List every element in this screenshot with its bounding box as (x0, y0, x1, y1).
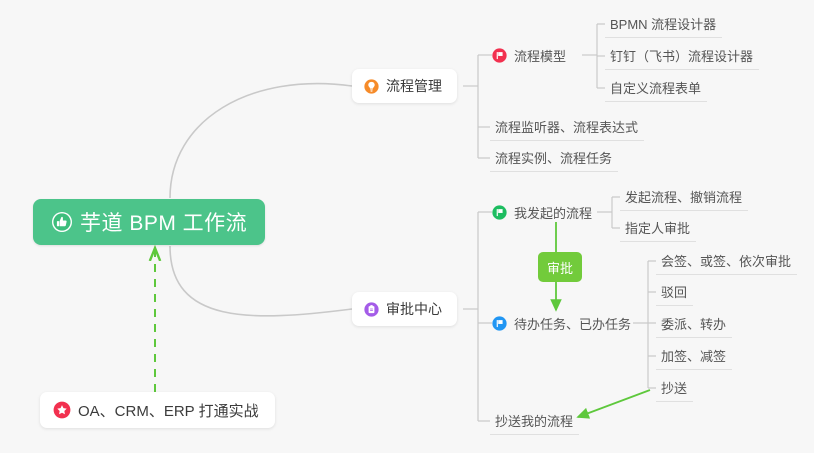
node-my-initiated-label: 我发起的流程 (514, 203, 592, 222)
leaf-cc-label: 抄送 (661, 378, 687, 397)
leaf-start-cancel[interactable]: 发起流程、撤销流程 (620, 183, 748, 211)
leaf-custom-form-label: 自定义流程表单 (610, 78, 701, 97)
leaf-assignee-approval-label: 指定人审批 (625, 218, 690, 237)
star-icon (53, 401, 71, 419)
leaf-bpmn-designer-label: BPMN 流程设计器 (610, 14, 716, 33)
branch-process-management-label: 流程管理 (386, 76, 442, 96)
tag-approval[interactable]: 审批 (538, 252, 582, 282)
leaf-process-listener[interactable]: 流程监听器、流程表达式 (490, 113, 644, 141)
root-label: 芋道 BPM 工作流 (80, 207, 247, 237)
footnote-label: OA、CRM、ERP 打通实战 (78, 400, 259, 421)
leaf-process-listener-label: 流程监听器、流程表达式 (495, 117, 638, 136)
leaf-delegate-transfer[interactable]: 委派、转办 (656, 310, 732, 338)
leaf-cc-my-process-label: 抄送我的流程 (495, 411, 573, 430)
leaf-start-cancel-label: 发起流程、撤销流程 (625, 187, 742, 206)
branch-approval-center-label: 审批中心 (386, 299, 442, 319)
flag-green-icon (492, 205, 507, 220)
node-my-initiated[interactable]: 我发起的流程 (492, 199, 592, 225)
leaf-add-remove-sign-label: 加签、减签 (661, 346, 726, 365)
arrow-cc-to-ccmy (578, 390, 650, 417)
leaf-countersign[interactable]: 会签、或签、依次审批 (656, 247, 797, 275)
node-todo-done-tasks[interactable]: 待办任务、已办任务 (492, 310, 631, 336)
branch-process-management[interactable]: 流程管理 (352, 69, 457, 103)
leaf-process-instance-label: 流程实例、流程任务 (495, 148, 612, 167)
leaf-bpmn-designer[interactable]: BPMN 流程设计器 (605, 10, 722, 38)
flag-red-icon (492, 48, 507, 63)
lightbulb-icon (364, 79, 379, 94)
branch-approval-center[interactable]: 审批中心 (352, 292, 457, 326)
thumbs-up-icon (51, 211, 73, 233)
flag-blue-icon (492, 316, 507, 331)
mindmap-canvas: 芋道 BPM 工作流 OA、CRM、ERP 打通实战 流程管理 (0, 0, 814, 453)
leaf-cc[interactable]: 抄送 (656, 374, 693, 402)
leaf-reject[interactable]: 驳回 (656, 278, 693, 306)
leaf-cc-my-process[interactable]: 抄送我的流程 (490, 407, 579, 435)
leaf-delegate-transfer-label: 委派、转办 (661, 314, 726, 333)
leaf-countersign-label: 会签、或签、依次审批 (661, 251, 791, 270)
clipboard-icon (364, 302, 379, 317)
leaf-reject-label: 驳回 (661, 282, 687, 301)
edge-root-to-approval-center (170, 246, 352, 316)
leaf-add-remove-sign[interactable]: 加签、减签 (656, 342, 732, 370)
root-node[interactable]: 芋道 BPM 工作流 (33, 199, 265, 245)
leaf-dingtalk-designer-label: 钉钉（飞书）流程设计器 (610, 46, 753, 65)
leaf-assignee-approval[interactable]: 指定人审批 (620, 214, 696, 242)
node-process-model-label: 流程模型 (514, 46, 566, 65)
node-process-model[interactable]: 流程模型 (492, 42, 566, 68)
tag-approval-label: 审批 (547, 258, 573, 277)
leaf-process-instance[interactable]: 流程实例、流程任务 (490, 144, 618, 172)
leaf-custom-form[interactable]: 自定义流程表单 (605, 74, 707, 102)
leaf-dingtalk-designer[interactable]: 钉钉（飞书）流程设计器 (605, 42, 759, 70)
node-todo-done-tasks-label: 待办任务、已办任务 (514, 314, 631, 333)
footnote-card[interactable]: OA、CRM、ERP 打通实战 (40, 392, 275, 428)
edge-root-to-process-management (170, 84, 352, 198)
